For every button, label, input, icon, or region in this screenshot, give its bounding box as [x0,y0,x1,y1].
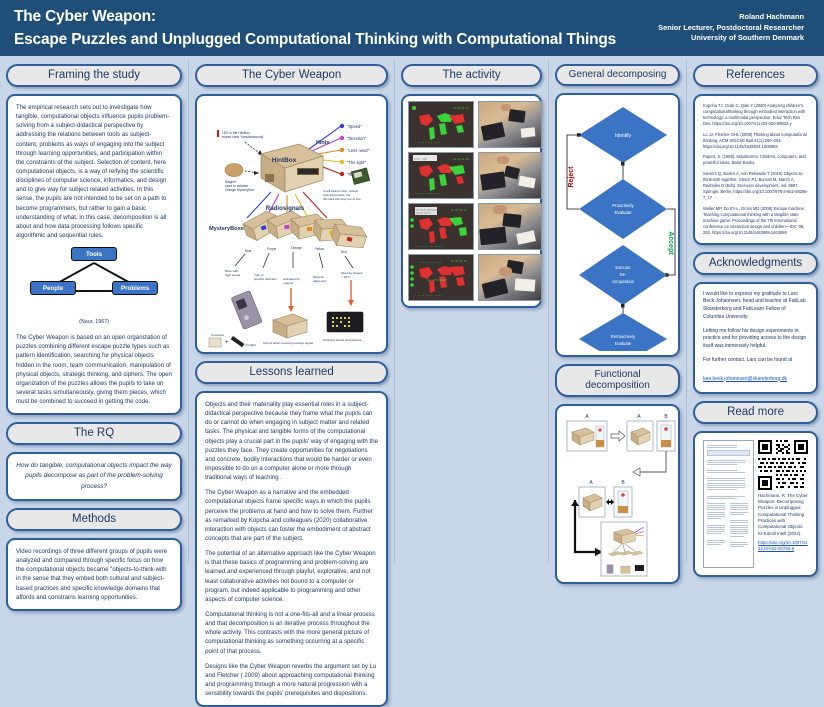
cyber-weapon-figure: "Speed" "Direction" "Lens need" "The lig… [201,100,382,348]
panel-activity: 01 02 03 04 > 1 1 0 0 1 0 1 1 0 1 [401,94,542,308]
svg-text:01 02 03 04: 01 02 03 04 [451,209,467,212]
header-title-group: The Cyber Weapon: Escape Puzzles and Unp… [14,8,616,47]
svg-text:B: B [621,480,625,486]
svg-text:> 0 1 1 0 1 1 0 0 1 0: > 0 1 1 0 1 1 0 0 1 0 [415,245,443,248]
world-map-svg: intrusion detected system access 01 02 0… [409,204,473,249]
svg-text:system access: system access [416,212,431,215]
svg-text:Showing actual temperature: Showing actual temperature [323,338,362,342]
node-proactively-evaluate [579,179,667,239]
world-map-svg: 01 02 03 04 1 0 1 1 0 0 1 0 1 ALL SYS RE… [409,255,473,300]
section-header-methods: Methods [6,508,182,531]
svg-text:Proactively: Proactively [612,203,634,208]
svg-text:Red: Red [341,250,347,254]
svg-text:Yellow: Yellow [315,247,325,251]
svg-text:UV-light: UV-light [245,343,256,347]
classroom-photo [478,101,542,148]
svg-text:ALL SYS READY: ALL SYS READY [427,279,448,282]
section-header-rq: The RQ [6,422,182,445]
read-more-content: Hachmann, R. The Cyber Weapon: Decomposi… [703,440,808,568]
svg-text:HintBox: HintBox [272,157,297,164]
reference-item: Weller MP, Do EY-L, Gross MD (2008) Esca… [703,206,808,236]
poster-header: The Cyber Weapon: Escape Puzzles and Unp… [0,0,824,56]
section-header-cyber-weapon: The Cyber Weapon [195,64,388,87]
poster-title-line-2: Escape Puzzles and Unplugged Computation… [14,31,616,48]
column-activity: The activity 01 02 03 04 [395,56,548,567]
reference-item: Papert, S. (1980). Mindstorms. Children,… [703,154,808,166]
svg-text:Reject: Reject [568,166,575,188]
panel-cyber-weapon: "Speed" "Direction" "Lens need" "The lig… [195,94,388,354]
author-role: Senior Lecturer, Postdoctoral Researcher [658,23,804,34]
svg-text:Accept: Accept [667,231,674,255]
svg-text:> 1 1 0 1 0 1 1 0 0 1: > 1 1 0 1 0 1 1 0 0 1 [415,294,443,297]
world-map-screen: 01 02 03 04 > 1 1 0 0 1 0 1 1 0 1 [408,101,474,148]
svg-text:01 02 03 04: 01 02 03 04 [451,260,467,263]
svg-text:+: + [225,340,229,346]
acknowledgment-paragraph-3: For further contact, Lars can be found a… [703,357,808,365]
reference-item: Kopcha TJ, Ocak C, Qian Y (2020) Analyzi… [703,103,808,127]
section-header-functional-decomposition: Functional decomposition [555,364,680,397]
svg-text:> 1 1 0 0 1 0 1 1 0 1: > 1 1 0 0 1 0 1 1 0 1 [415,141,443,144]
svg-text:1 0 1 1 0 0 1 0 1: 1 0 1 1 0 0 1 0 1 [419,261,442,264]
svg-text:magnet: magnet [283,281,293,285]
classroom-photo [478,203,542,250]
activity-row: intrusion detected system access 01 02 0… [408,203,535,250]
svg-text:Radiosignals: Radiosignals [266,205,305,212]
svg-text:B: B [664,414,668,420]
svg-text:Orange: Orange [291,246,302,250]
section-header-acknowledgments: Acknowledgments [693,252,818,275]
panel-methods: Video recordings of three different grou… [6,538,182,611]
column-center: The Cyber Weapon [189,56,394,567]
reference-item: Lu JJ, Fletcher GHL (2009) Thinking abou… [703,132,808,150]
svg-text:01 02 03 04: 01 02 03 04 [453,107,469,110]
svg-text:SD card will drop out of box: SD card will drop out of box [323,197,361,201]
general-decomposing-flowchart: Identify Proactively Evaluate Reject [561,99,674,351]
svg-text:"The light": "The light" [347,160,366,165]
naur-diagram: Tools People Problems [16,247,172,315]
framing-paragraph-2: The Cyber Weapon is based on an open org… [16,333,172,406]
svg-text:"Speed": "Speed" [347,124,362,129]
panel-functional-decomposition: A A [555,404,680,584]
lessons-paragraph-5: Designs like the Cyber Weapon reverbs th… [205,662,378,699]
activity-image-grid: 01 02 03 04 > 1 1 0 0 1 0 1 1 0 1 [408,101,535,301]
column-decomposition: General decomposing Identify Proactively… [549,56,686,567]
svg-text:"Lens need": "Lens need" [347,148,370,153]
svg-text:Retroactively: Retroactively [611,334,636,339]
read-more-citation: Hachmann, R. The Cyber Weapon: Decomposi… [758,493,808,538]
functional-decomposition-figure: A A [561,410,674,578]
svg-text:Evaluate: Evaluate [615,210,633,215]
naur-node-tools: Tools [71,247,117,261]
classroom-photo [478,152,542,199]
svg-text:darkened: darkened [313,279,326,283]
svg-text:specific direction: specific direction [254,277,277,281]
lessons-paragraph-2: The Cyber Weapon as a narrative and the … [205,488,378,543]
section-header-read-more: Read more [693,401,818,424]
world-map-svg: enter code 01 02 03 04 > 1 0 1 1 0 0 1 0… [409,153,473,198]
world-map-screen: enter code 01 02 03 04 > 1 0 1 1 0 0 1 0… [408,152,474,199]
author-name: Roland Hachmann [658,12,804,23]
svg-text:Opens when receiving orange si: Opens when receiving orange signal [263,341,313,345]
poster: The Cyber Weapon: Escape Puzzles and Unp… [0,0,824,567]
acknowledgment-paragraph-1: I would like to express my gratitude to … [703,291,808,322]
author-block: Roland Hachmann Senior Lecturer, Postdoc… [658,12,810,44]
lessons-paragraph-4: Computational thinking is not a one-fits… [205,610,378,656]
panel-general-decomposing: Identify Proactively Evaluate Reject [555,93,680,357]
world-map-screen: 01 02 03 04 1 0 1 1 0 0 1 0 1 ALL SYS RE… [408,254,474,301]
activity-row: 01 02 03 04 > 1 1 0 0 1 0 1 1 0 1 [408,101,535,148]
poster-title-line-1: The Cyber Weapon: [14,8,616,25]
read-more-side: Hachmann, R. The Cyber Weapon: Decomposi… [758,440,808,568]
section-header-references: References [693,64,818,87]
svg-text:A: A [585,414,589,420]
panel-lessons: Objects and their materiality play essen… [195,391,388,707]
section-header-activity: The activity [401,64,542,87]
svg-text:MysteryBoxes: MysteryBoxes [209,226,247,232]
naur-citation: (Naur, 1967) [16,319,172,325]
svg-text:composition: composition [612,279,635,284]
methods-text: Video recordings of three different grou… [16,547,172,602]
svg-text:Hints: Hints [316,140,329,146]
svg-text:01 02 03 04: 01 02 03 04 [453,158,469,161]
contact-email-link[interactable]: lars.beck.johannsen@skanderborg.dk [703,376,787,382]
lessons-paragraph-1: Objects and their materiality play essen… [205,400,378,482]
world-map-screen: intrusion detected system access 01 02 0… [408,203,474,250]
svg-text:"Direction": "Direction" [347,136,367,141]
svg-text:Execute: Execute [615,265,631,270]
svg-text:> 34°C: > 34°C [341,275,351,279]
svg-text:> 1 0 1 1 0 0 1 0 1 1: > 1 0 1 1 0 0 1 0 1 1 [415,192,443,195]
naur-node-problems: Problems [112,281,158,295]
read-more-doi-link[interactable]: https://doi.org/10.1007/s13218-022-00756… [758,540,808,552]
svg-text:Compass: Compass [211,333,225,337]
flowchart-svg: Identify Proactively Evaluate Reject [561,99,679,351]
classroom-photo [478,254,542,301]
lessons-paragraph-3: The potential of an alternative approach… [205,549,378,604]
column-left: Framing the study The empirical research… [0,56,188,567]
panel-framing: The empirical research sets out to inves… [6,94,182,415]
panel-acknowledgments: I would like to express my gratitude to … [693,282,818,394]
svg-text:high speed: high speed [225,273,240,277]
acknowledgment-paragraph-2: Letting me follow his design experiments… [703,328,808,351]
panel-rq: How do tangible, computational objects i… [6,452,182,501]
svg-text:A: A [637,414,641,420]
world-map-svg: 01 02 03 04 > 1 1 0 0 1 0 1 1 0 1 [409,102,473,147]
framing-paragraph-1: The empirical research sets out to inves… [16,103,172,240]
author-affiliation: University of Southern Denmark [658,33,804,44]
svg-text:morse code "simultaneously": morse code "simultaneously" [222,135,265,139]
svg-text:Blue: Blue [245,249,252,253]
svg-text:A: A [589,480,593,486]
svg-text:Evaluate: Evaluate [615,341,632,346]
reference-item: Sievers Q, Boden A, von Reliowski T (201… [703,171,808,201]
panel-read-more: Hachmann, R. The Cyber Weapon: Decomposi… [693,431,818,577]
svg-text:Identify: Identify [615,133,632,139]
svg-text:enter code: enter code [414,158,428,161]
poster-columns: Framing the study The empirical research… [0,56,824,567]
section-header-lessons: Lessons learned [195,361,388,384]
svg-text:Purple: Purple [267,247,276,251]
section-header-framing: Framing the study [6,64,182,87]
naur-node-people: People [30,281,76,295]
research-question: How do tangible, computational objects i… [16,461,172,492]
functional-decomposition-svg: A A [561,410,679,578]
svg-text:Orange MysteryBox: Orange MysteryBox [225,188,254,192]
activity-row: 01 02 03 04 1 0 1 1 0 0 1 0 1 ALL SYS RE… [408,254,535,301]
section-header-general-decomposing: General decomposing [555,64,680,86]
activity-row: enter code 01 02 03 04 > 1 0 1 1 0 0 1 0… [408,152,535,199]
column-right: References Kopcha TJ, Ocak C, Qian Y (20… [687,56,824,567]
panel-references: Kopcha TJ, Ocak C, Qian Y (2020) Analyzi… [693,94,818,245]
paper-thumbnail [703,440,754,568]
cyber-weapon-illustration: "Speed" "Direction" "Lens need" "The lig… [201,100,382,348]
qr-code-icon[interactable] [758,440,808,490]
svg-text:De-: De- [620,272,627,277]
